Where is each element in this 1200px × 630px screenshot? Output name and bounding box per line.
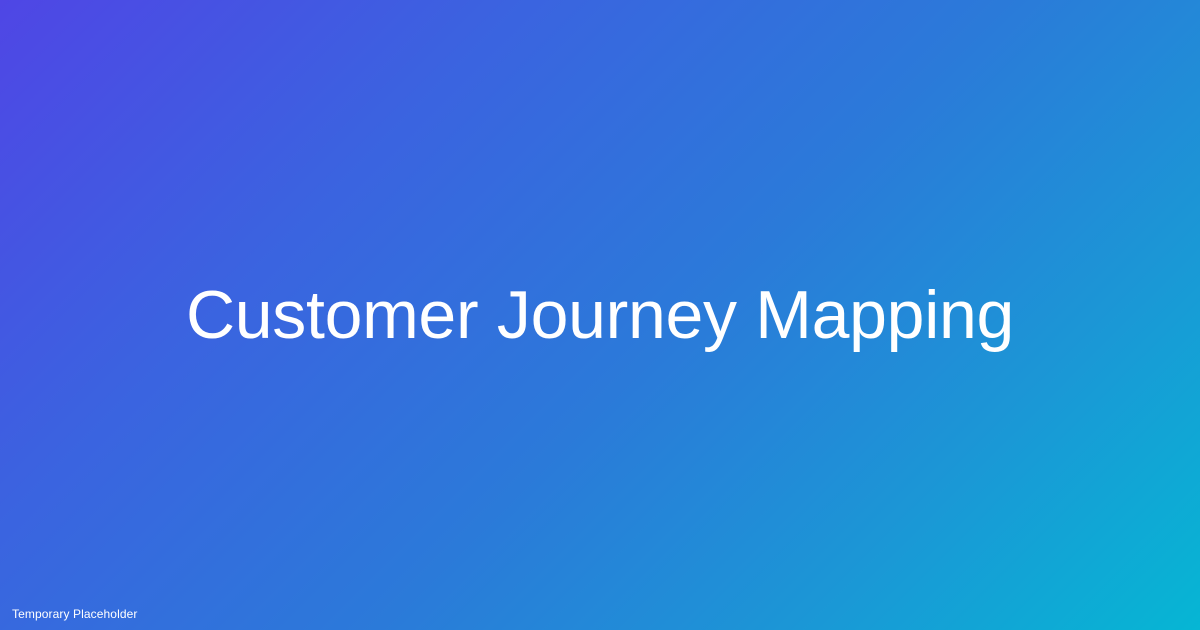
page-title: Customer Journey Mapping — [186, 277, 1014, 353]
social-preview-card: Customer Journey Mapping Temporary Place… — [0, 0, 1200, 630]
placeholder-note: Temporary Placeholder — [12, 607, 138, 621]
title-container: Customer Journey Mapping — [0, 0, 1200, 630]
